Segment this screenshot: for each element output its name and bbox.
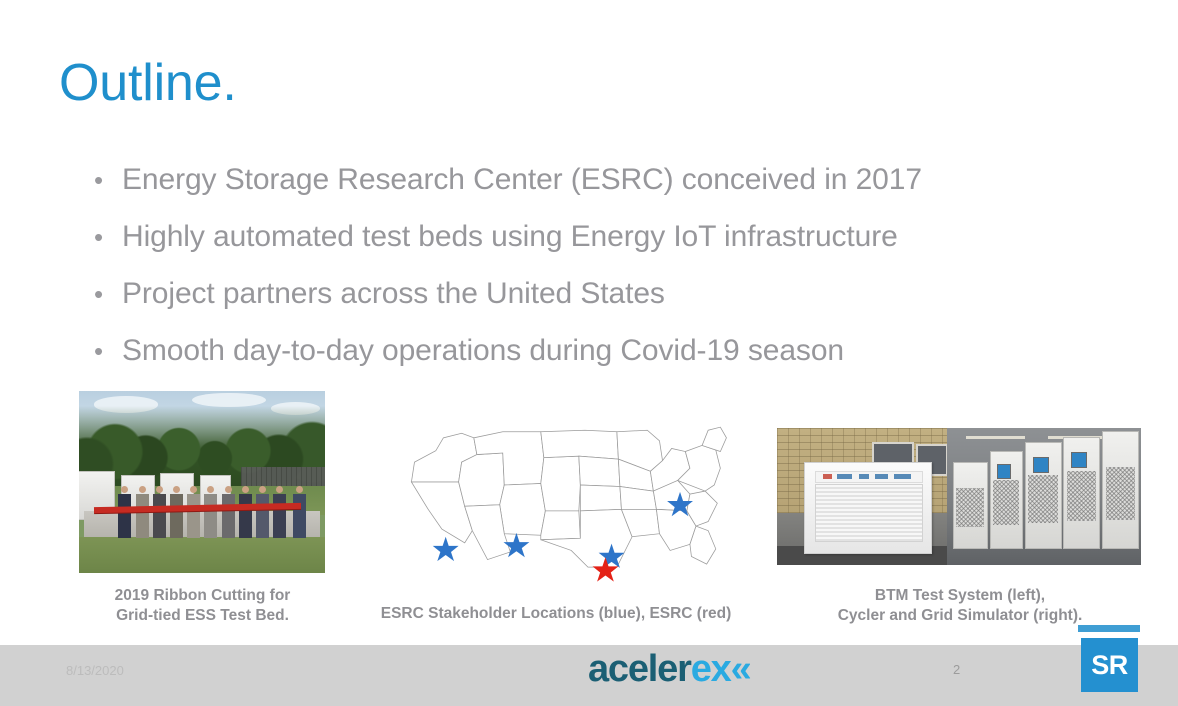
cabinet [953, 462, 988, 549]
label-mark [859, 474, 870, 479]
page-number: 2 [953, 662, 960, 677]
bullet-text: Smooth day-to-day operations during Covi… [122, 334, 844, 368]
cabinet-mesh [956, 488, 984, 527]
cabinet-mesh [1067, 471, 1096, 521]
control-screen [1033, 457, 1049, 473]
label-mark [875, 474, 888, 479]
state-nd-sd [541, 430, 619, 459]
ceiling-light [966, 436, 1024, 439]
caption-line: Cycler and Grid Simulator (right). [790, 606, 1130, 626]
bullet-dot-icon: • [88, 167, 122, 193]
bullet-dot-icon: • [88, 281, 122, 307]
person [153, 486, 166, 538]
stakeholder-map [336, 415, 776, 595]
list-item: • Smooth day-to-day operations during Co… [88, 334, 1098, 391]
ribbon-cutting-photo [79, 391, 325, 573]
cabinet-mesh [1106, 467, 1135, 520]
page-title: Outline. [59, 55, 237, 112]
stakeholder-map-caption: ESRC Stakeholder Locations (blue), ESRC … [336, 604, 776, 624]
person [256, 486, 269, 538]
state-ne-ks [579, 456, 620, 486]
btm-container-photo [777, 428, 947, 565]
us-map-svg [336, 415, 776, 590]
grid-simulator-cabinet [1063, 437, 1100, 549]
caption-line: BTM Test System (left), [790, 586, 1130, 606]
sr-logo-badge: SR [1081, 638, 1138, 692]
logo-text-dark: aceler [588, 648, 691, 690]
container-label-strip [815, 471, 923, 483]
battery-container [804, 462, 932, 554]
caption-line: 2019 Ribbon Cutting for [60, 586, 345, 606]
state-ok [580, 485, 621, 511]
label-mark [837, 474, 852, 479]
list-item: • Project partners across the United Sta… [88, 277, 1098, 334]
control-screen [1071, 452, 1087, 468]
footer-date: 8/13/2020 [66, 663, 124, 678]
caption-line: ESRC Stakeholder Locations (blue), ESRC … [336, 604, 776, 624]
person [273, 486, 286, 538]
state-fl [690, 526, 716, 564]
outline-bullet-list: • Energy Storage Research Center (ESRC) … [88, 163, 1098, 391]
person [204, 486, 217, 538]
label-mark [894, 474, 911, 479]
person [222, 486, 235, 538]
grid-simulator-cabinet [1025, 442, 1062, 548]
person [170, 486, 183, 538]
list-item: • Energy Storage Research Center (ESRC) … [88, 163, 1098, 220]
cabinet-mesh [1028, 475, 1057, 523]
person [293, 486, 306, 538]
cycler-grid-simulator-photo [947, 428, 1141, 565]
state-nm [541, 511, 581, 540]
map-marker-star-blue [504, 533, 530, 557]
person [136, 486, 149, 538]
cabinet-mesh [993, 480, 1019, 524]
control-screen [997, 464, 1011, 478]
bullet-text: Energy Storage Research Center (ESRC) co… [122, 163, 922, 197]
slide-canvas: Outline. • Energy Storage Research Cente… [0, 0, 1178, 706]
blue-underline-accent [1078, 625, 1140, 632]
ribbon-cutting-caption: 2019 Ribbon Cutting for Grid-tied ESS Te… [60, 586, 345, 627]
person [187, 486, 200, 538]
state-co [541, 456, 581, 511]
logo-chevron-icon: « [731, 648, 751, 690]
state-ut-az [500, 483, 546, 535]
container-louvers [815, 484, 923, 542]
caption-line: Grid-tied ESS Test Bed. [60, 606, 345, 626]
bullet-text: Highly automated test beds using Energy … [122, 220, 898, 254]
person [239, 486, 252, 538]
map-marker-star-blue [433, 537, 459, 561]
btm-test-system-caption: BTM Test System (left), Cycler and Grid … [790, 586, 1130, 627]
label-mark [823, 474, 833, 479]
grass-foreground [79, 537, 325, 573]
btm-test-system-photo [777, 428, 1141, 565]
state-nv-id [459, 453, 505, 506]
acelerex-logo: acelerex« [588, 650, 751, 688]
grid-simulator-cabinet [1102, 431, 1139, 548]
logo-text-light: ex [691, 648, 731, 690]
bullet-dot-icon: • [88, 338, 122, 364]
bullet-dot-icon: • [88, 224, 122, 250]
list-item: • Highly automated test beds using Energ… [88, 220, 1098, 277]
cycler-cabinet [990, 451, 1023, 549]
bullet-text: Project partners across the United State… [122, 277, 665, 311]
